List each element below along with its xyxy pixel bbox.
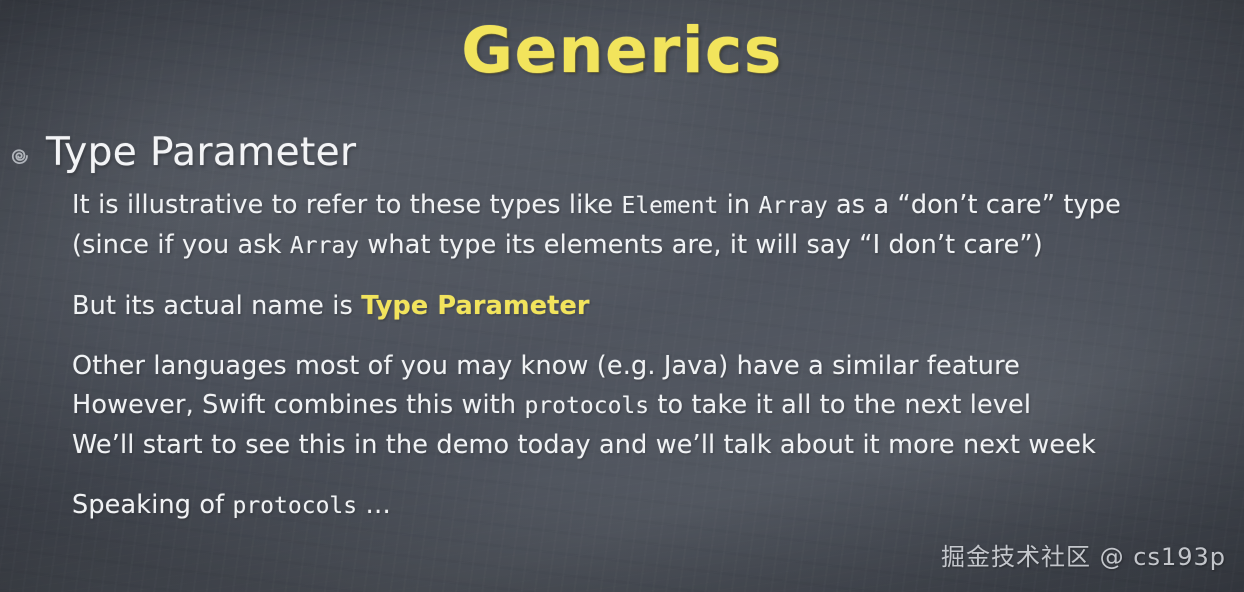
text-line: However, Swift combines this with protoc… — [72, 386, 1214, 426]
text-line: Speaking of protocols … — [72, 486, 1214, 526]
paragraph-speaking-of: Speaking of protocols … — [72, 486, 1214, 526]
chalkboard-slide: Generics Type Parameter It is illustrati… — [0, 0, 1244, 592]
section-heading: Type Parameter — [8, 130, 356, 175]
text-run: in — [718, 190, 758, 220]
code-term: Array — [290, 233, 359, 259]
paragraph-other-languages: Other languages most of you may know (e.… — [72, 347, 1214, 465]
highlighted-term: Type Parameter — [361, 291, 589, 321]
text-run: But its actual name is — [72, 291, 361, 321]
slide-title: Generics — [0, 14, 1244, 87]
text-run: We’ll start to see this in the demo toda… — [72, 430, 1096, 460]
paragraph-actual-name: But its actual name is Type Parameter — [72, 287, 1214, 326]
text-line: We’ll start to see this in the demo toda… — [72, 426, 1214, 465]
text-run: as a “don’t care” type — [828, 190, 1121, 220]
text-run: However, Swift combines this with — [72, 390, 524, 420]
code-term: Array — [758, 193, 827, 219]
text-run: Speaking of — [72, 490, 232, 520]
text-line: Other languages most of you may know (e.… — [72, 347, 1214, 386]
text-run: Other languages most of you may know (e.… — [72, 351, 1020, 381]
code-term: protocols — [524, 393, 649, 419]
watermark: 掘金技术社区 @ cs193p — [941, 537, 1226, 572]
text-run: what type its elements are, it will say … — [359, 230, 1043, 260]
text-run: (since if you ask — [72, 230, 290, 260]
text-run: to take it all to the next level — [649, 390, 1031, 420]
code-term: Element — [621, 193, 718, 219]
slide-body: It is illustrative to refer to these typ… — [72, 186, 1214, 526]
paragraph-illustrative: It is illustrative to refer to these typ… — [72, 186, 1214, 266]
text-run: … — [357, 490, 391, 520]
text-line: (since if you ask Array what type its el… — [72, 226, 1214, 266]
text-line: It is illustrative to refer to these typ… — [72, 186, 1214, 226]
text-run: It is illustrative to refer to these typ… — [72, 190, 621, 220]
code-term: protocols — [232, 493, 357, 519]
section-heading-label: Type Parameter — [46, 130, 356, 175]
text-line: But its actual name is Type Parameter — [72, 287, 1214, 326]
spiral-swirl-icon — [8, 143, 33, 168]
